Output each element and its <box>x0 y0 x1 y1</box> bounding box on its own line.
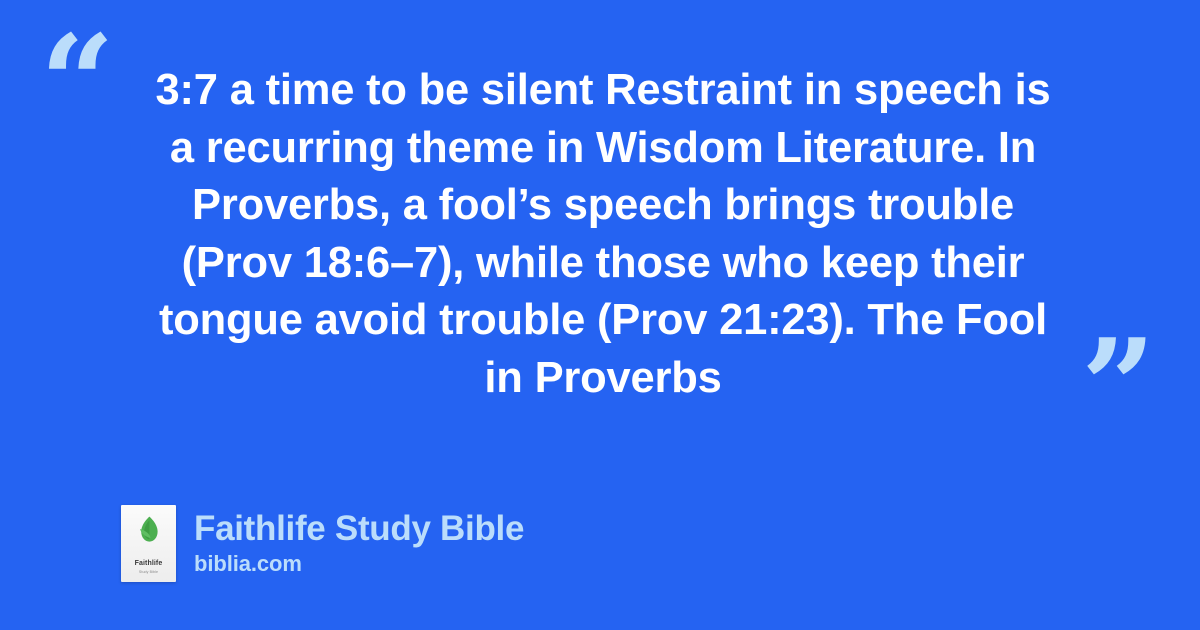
quote-close-icon: ” <box>1081 322 1156 452</box>
faithlife-flame-leaf-icon <box>137 516 161 546</box>
brand-footer: Faithlife Study Bible Faithlife Study Bi… <box>121 505 524 582</box>
brand-title: Faithlife Study Bible <box>194 509 524 549</box>
book-cover-title: Faithlife <box>121 560 176 567</box>
book-cover-subtitle: Study Bible <box>121 570 176 574</box>
quote-text: 3:7 a time to be silent Restraint in spe… <box>118 62 1088 407</box>
quote-block: 3:7 a time to be silent Restraint in spe… <box>118 62 1088 407</box>
quote-card: “ 3:7 a time to be silent Restraint in s… <box>0 0 1200 630</box>
book-cover-thumbnail: Faithlife Study Bible <box>121 505 176 582</box>
brand-url[interactable]: biblia.com <box>194 551 524 577</box>
brand-text-group: Faithlife Study Bible biblia.com <box>194 509 524 579</box>
quote-open-icon: “ <box>40 18 115 148</box>
